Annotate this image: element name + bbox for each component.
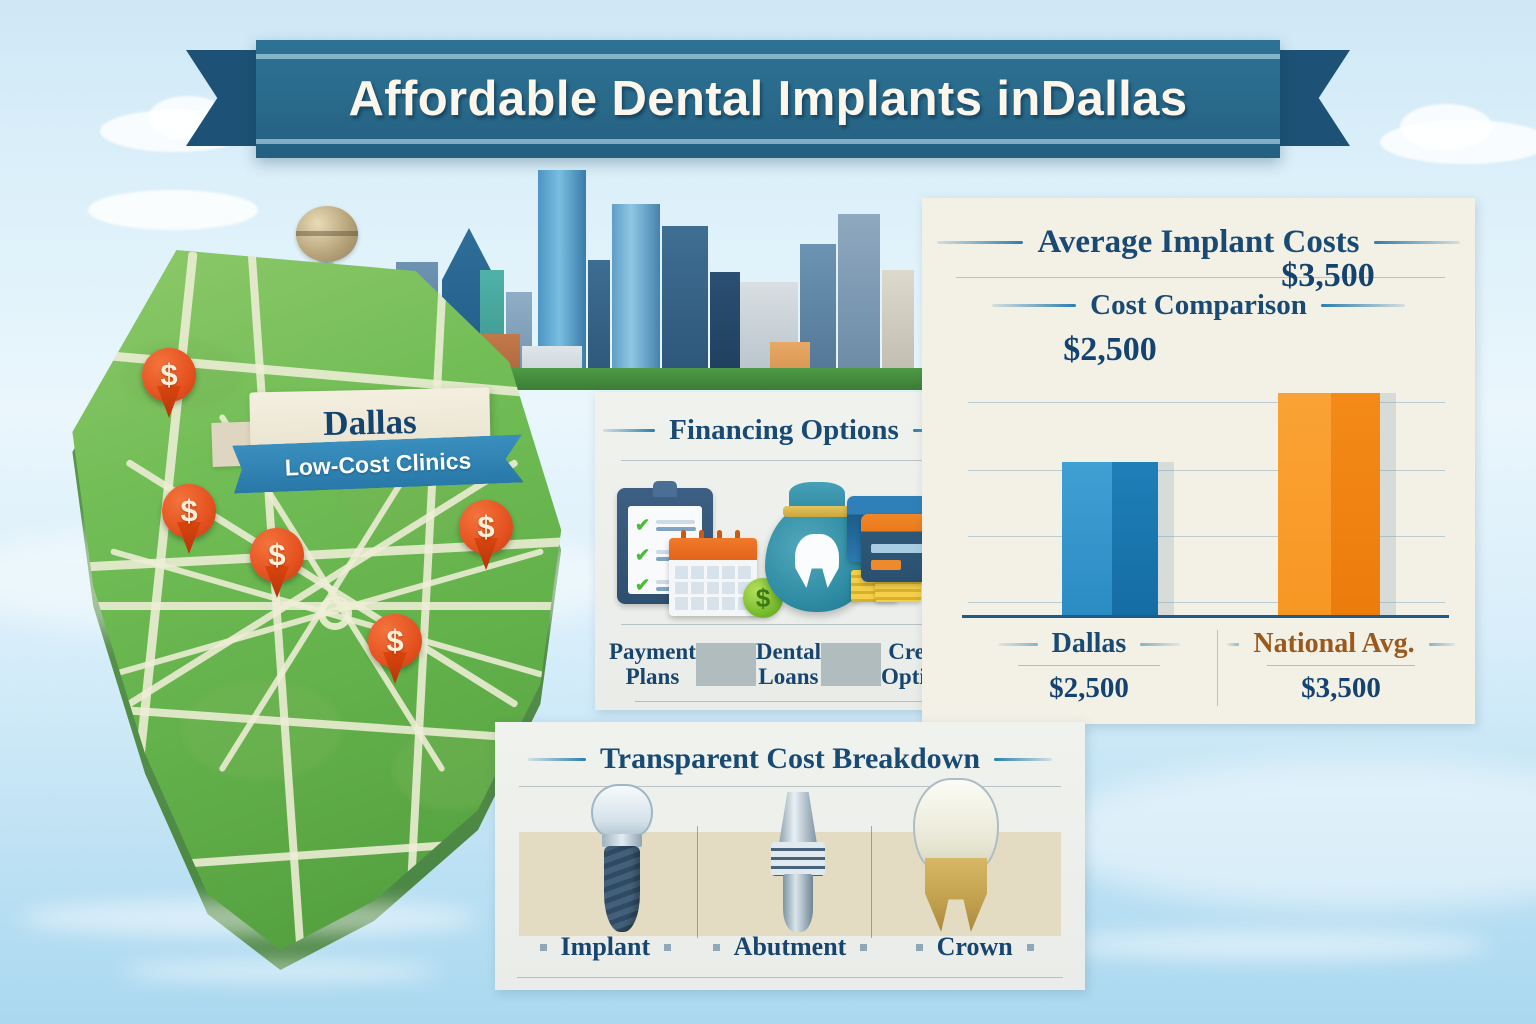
divider (871, 826, 872, 938)
map-green-patch (392, 730, 512, 810)
divider (697, 826, 698, 938)
option-line2: Loans (756, 664, 821, 690)
divider (821, 643, 881, 687)
check-icon: ✔ (635, 578, 650, 593)
bullet-icon (1027, 944, 1034, 951)
check-icon: ✔ (635, 548, 650, 563)
pin-dollar-icon: $ (368, 614, 422, 668)
clinic-pin[interactable]: $ (368, 614, 422, 686)
breakdown-part-abutment[interactable]: Abutment (698, 932, 883, 962)
category-dallas: Dallas $2,500 (974, 628, 1204, 705)
map-center-hub (318, 596, 352, 630)
building (662, 226, 708, 390)
x-axis (962, 615, 1449, 618)
pin-dollar-icon: $ (250, 528, 304, 582)
cost-breakdown-panel: Transparent Cost Breakdown Implant Abutm… (495, 722, 1085, 990)
divider (635, 701, 933, 702)
bar-value-label-dallas: $2,500 (1030, 331, 1190, 369)
option-line1: Dental (756, 639, 821, 665)
part-label: Implant (561, 932, 651, 962)
clinic-pin[interactable]: $ (142, 348, 196, 420)
page-title-city: Dallas (1041, 71, 1188, 127)
page-title: Affordable Dental Implants in Dallas (256, 40, 1280, 158)
banner-body: Affordable Dental Implants in Dallas (256, 40, 1280, 158)
sky-haze (1050, 760, 1536, 910)
divider (517, 977, 1063, 978)
water-wave (120, 960, 440, 982)
bar-dallas[interactable] (1062, 462, 1158, 615)
tooth-icon (795, 534, 839, 588)
bar-national-avg[interactable] (1278, 393, 1380, 615)
financing-options-list: Payment Plans Dental Loans Credit Option… (609, 639, 959, 691)
costs-header: Average Implant Costs (922, 224, 1475, 261)
category-national-avg: National Avg. $3,500 (1222, 628, 1460, 705)
plot-area: $2,500 $3,500 (968, 393, 1445, 615)
bullet-icon (916, 944, 923, 951)
breakdown-parts-list: Implant Abutment Crown (513, 932, 1067, 962)
clinic-pin[interactable]: $ (162, 484, 216, 556)
building (612, 204, 660, 390)
abutment-icon (767, 792, 829, 932)
costs-header-text: Average Implant Costs (1037, 224, 1359, 261)
financing-header-text: Financing Options (669, 414, 899, 447)
average-implant-costs-panel: Average Implant Costs Cost Comparison $2… (922, 198, 1475, 724)
part-label: Crown (937, 932, 1013, 962)
divider (621, 624, 947, 625)
category-label-dallas: Dallas (1052, 628, 1127, 660)
pin-dollar-icon: $ (162, 484, 216, 538)
category-value-dallas: $2,500 (974, 672, 1204, 705)
option-line2: Plans (609, 664, 696, 690)
divider (1217, 630, 1218, 706)
check-icon: ✔ (635, 518, 650, 533)
cloud (88, 190, 258, 230)
building (838, 214, 880, 390)
financing-option-dental-loans[interactable]: Dental Loans (756, 639, 821, 691)
pin-dollar-icon: $ (459, 500, 513, 554)
bar-value-label-national: $3,500 (1238, 257, 1418, 295)
water-wave (1060, 930, 1490, 960)
breakdown-part-crown[interactable]: Crown (882, 932, 1067, 962)
financing-option-payment-plans[interactable]: Payment Plans (609, 639, 696, 691)
divider (696, 643, 756, 687)
infographic-canvas: Affordable Dental Implants in Dallas (0, 0, 1536, 1024)
cloud (1400, 104, 1492, 150)
page-title-prefix: Affordable Dental Implants in (349, 71, 1041, 127)
bullet-icon (540, 944, 547, 951)
pin-dollar-icon: $ (142, 348, 196, 402)
bullet-icon (860, 944, 867, 951)
map-green-patch (182, 680, 342, 780)
financing-header: Financing Options (595, 414, 973, 447)
breakdown-header-text: Transparent Cost Breakdown (600, 742, 980, 776)
breakdown-part-implant[interactable]: Implant (513, 932, 698, 962)
implant-icon (587, 784, 657, 932)
category-label-national: National Avg. (1253, 628, 1414, 660)
breakdown-header: Transparent Cost Breakdown (495, 742, 1085, 776)
bullet-icon (713, 944, 720, 951)
financing-options-panel: Financing Options ✔ ✔ ✔ (595, 392, 973, 710)
bullet-icon (664, 944, 671, 951)
option-line1: Payment (609, 639, 696, 665)
category-value-national: $3,500 (1222, 672, 1460, 705)
clinic-pin[interactable]: $ (250, 528, 304, 600)
part-label: Abutment (734, 932, 847, 962)
crown-icon (913, 778, 999, 934)
title-banner: Affordable Dental Implants in Dallas (186, 32, 1350, 162)
clinic-pin[interactable]: $ (459, 500, 513, 572)
divider (621, 460, 947, 461)
